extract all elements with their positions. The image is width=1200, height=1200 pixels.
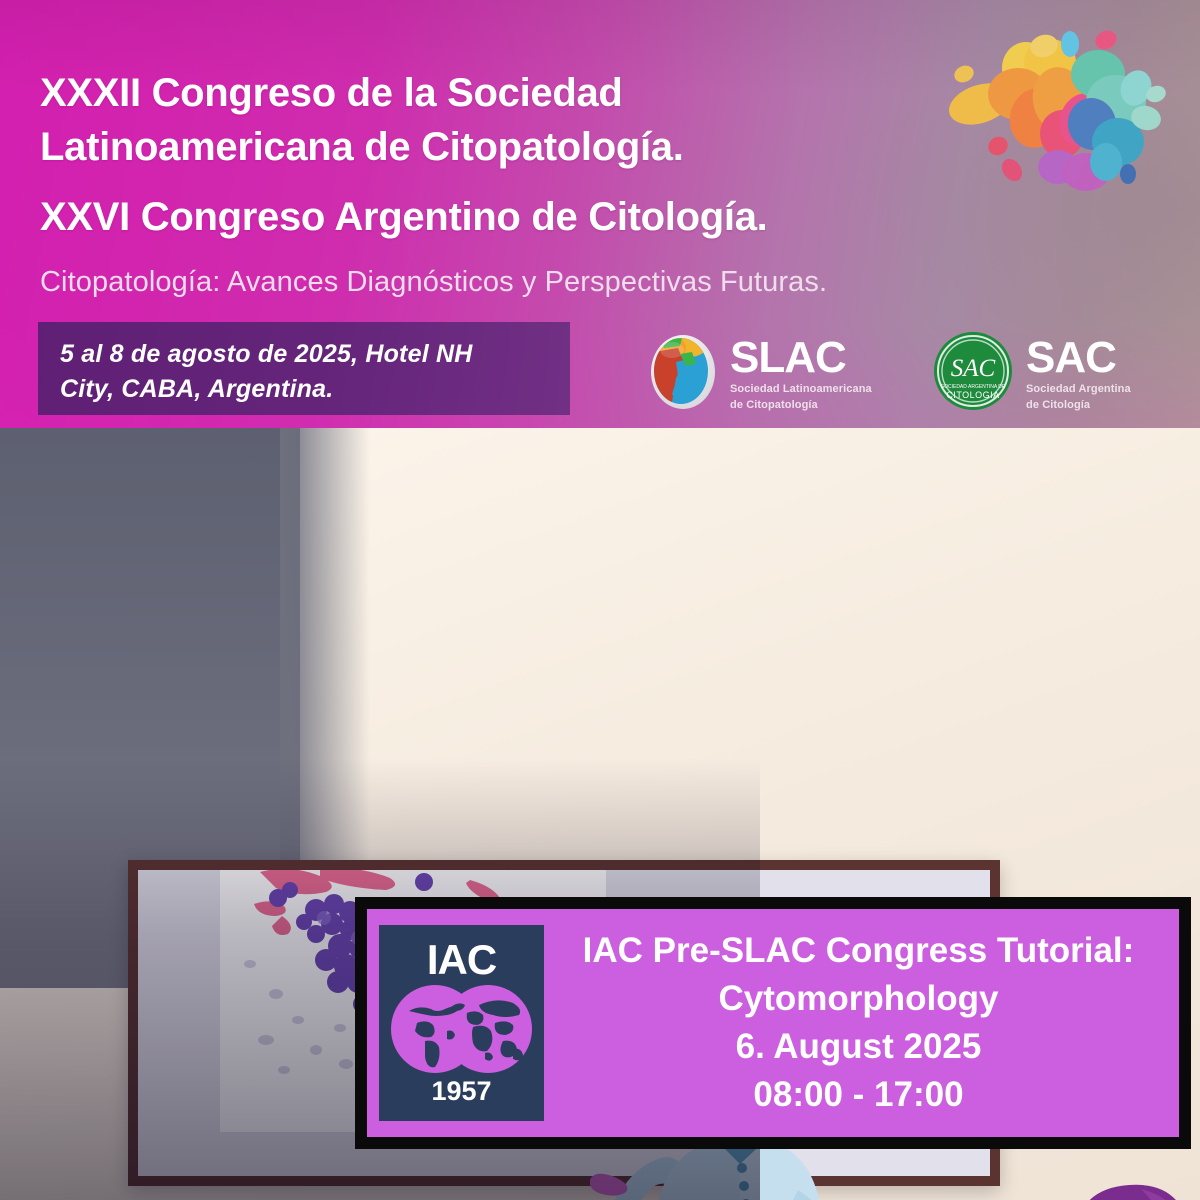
date-line-1: 5 al 8 de agosto de 2025, Hotel NH [60, 337, 548, 372]
sac-acronym: SAC [1026, 333, 1116, 382]
slac-subtitle-line-2: de Citopatología [730, 399, 872, 412]
sac-subtitle-line-2: de Citología [1026, 399, 1131, 412]
audience-member-4 [1055, 1173, 1200, 1200]
tutorial-banner: IAC [355, 897, 1191, 1149]
title-line-1: XXXII Congreso de la Sociedad [40, 66, 940, 120]
slac-logo: SLAC Sociedad Latinoamericana de Citopat… [648, 332, 872, 415]
poster-root: XXXII Congreso de la Sociedad Latinoamer… [0, 0, 1200, 1200]
title-line-2: Latinoamericana de Citopatología. [40, 120, 940, 174]
sac-logo: SAC SOCIEDAD ARGENTINA DE CITOLOGIA SAC … [932, 330, 1131, 417]
globe-americas-icon [648, 332, 718, 415]
date-location-box: 5 al 8 de agosto de 2025, Hotel NH City,… [38, 322, 570, 415]
tutorial-banner-inner: IAC [367, 909, 1179, 1137]
subtitle: Citopatología: Avances Diagnósticos y Pe… [40, 264, 940, 300]
slac-text: SLAC Sociedad Latinoamericana de Citopat… [730, 336, 872, 412]
sac-subtitle-line-1: Sociedad Argentina [1026, 383, 1131, 396]
title-line-3: XXVI Congreso Argentino de Citología. [40, 190, 940, 244]
svg-text:CITOLOGIA: CITOLOGIA [946, 390, 999, 400]
slac-subtitle-line-1: Sociedad Latinoamericana [730, 383, 872, 396]
ink-splash-logo-icon [940, 22, 1190, 222]
tutorial-text-block: IAC Pre-SLAC Congress Tutorial: Cytomorp… [544, 927, 1179, 1119]
tutorial-line-3: 6. August 2025 [548, 1023, 1169, 1071]
date-line-2: City, CABA, Argentina. [60, 372, 548, 407]
svg-text:SAC: SAC [951, 355, 996, 382]
slac-acronym: SLAC [730, 333, 846, 382]
header-banner: XXXII Congreso de la Sociedad Latinoamer… [0, 0, 1200, 430]
sac-text: SAC Sociedad Argentina de Citología [1026, 336, 1131, 412]
iac-year: 1957 [379, 1078, 544, 1105]
tutorial-line-2: Cytomorphology [548, 975, 1169, 1023]
tutorial-line-4: 08:00 - 17:00 [548, 1071, 1169, 1119]
iac-badge: IAC [379, 925, 544, 1121]
tutorial-line-1: IAC Pre-SLAC Congress Tutorial: [548, 927, 1169, 975]
iac-acronym: IAC [379, 939, 544, 981]
title-block: XXXII Congreso de la Sociedad Latinoamer… [40, 66, 940, 300]
green-circle-seal-icon: SAC SOCIEDAD ARGENTINA DE CITOLOGIA [932, 330, 1014, 417]
two-globes-icon [391, 983, 532, 1075]
